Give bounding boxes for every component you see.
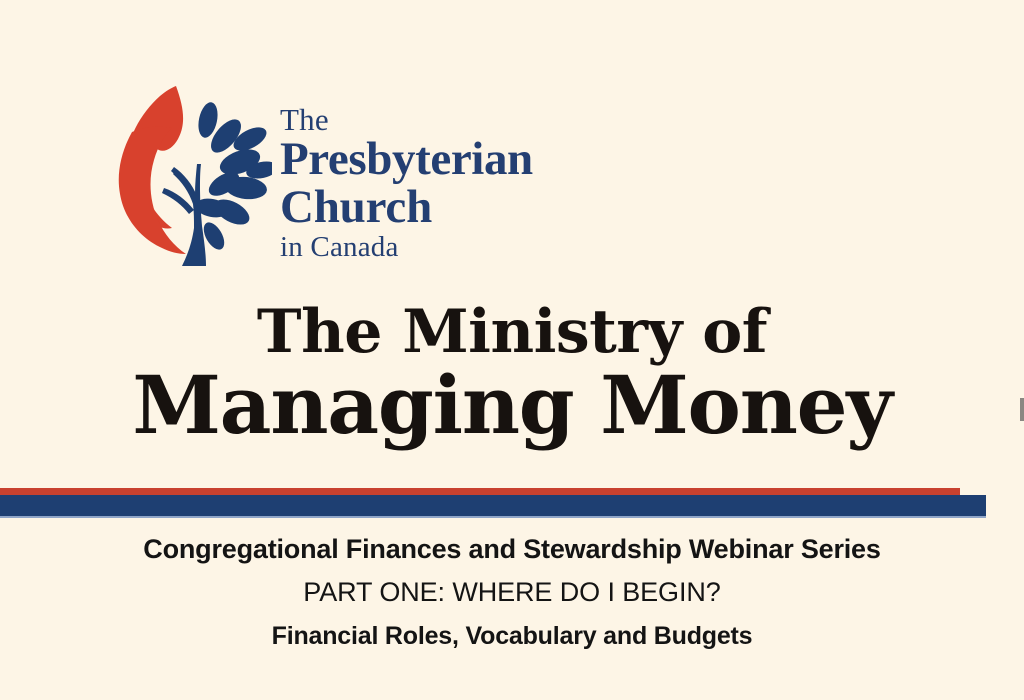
wordmark-line-presbyterian: Presbyterian (280, 136, 560, 183)
flame-tree-logo-icon (112, 84, 272, 270)
wordmark-line-in-canada: in Canada (280, 233, 560, 262)
presentation-slide: The Presbyterian Church in Canada The Mi… (0, 0, 1024, 700)
slide-title: The Ministry of Managing Money (0, 300, 1024, 449)
subtitle-series-line: Congregational Finances and Stewardship … (0, 536, 1024, 579)
divider-bar-blue-highlight (0, 516, 986, 518)
subtitle-topics-line: Financial Roles, Vocabulary and Budgets (0, 624, 1024, 649)
title-line-1: The Ministry of (0, 300, 1024, 364)
wordmark-line-church: Church (280, 184, 560, 231)
window-edge-artifact (1020, 398, 1024, 421)
church-logo: The Presbyterian Church in Canada (112, 84, 552, 274)
wordmark-line-the: The (280, 104, 560, 135)
divider-bar-blue (0, 495, 986, 516)
title-line-2: Managing Money (0, 362, 1024, 448)
subtitle-part-line: PART ONE: WHERE DO I BEGIN? (0, 579, 1024, 624)
church-wordmark: The Presbyterian Church in Canada (280, 104, 560, 262)
slide-subtitle: Congregational Finances and Stewardship … (0, 536, 1024, 649)
divider-bar-red (0, 488, 960, 495)
